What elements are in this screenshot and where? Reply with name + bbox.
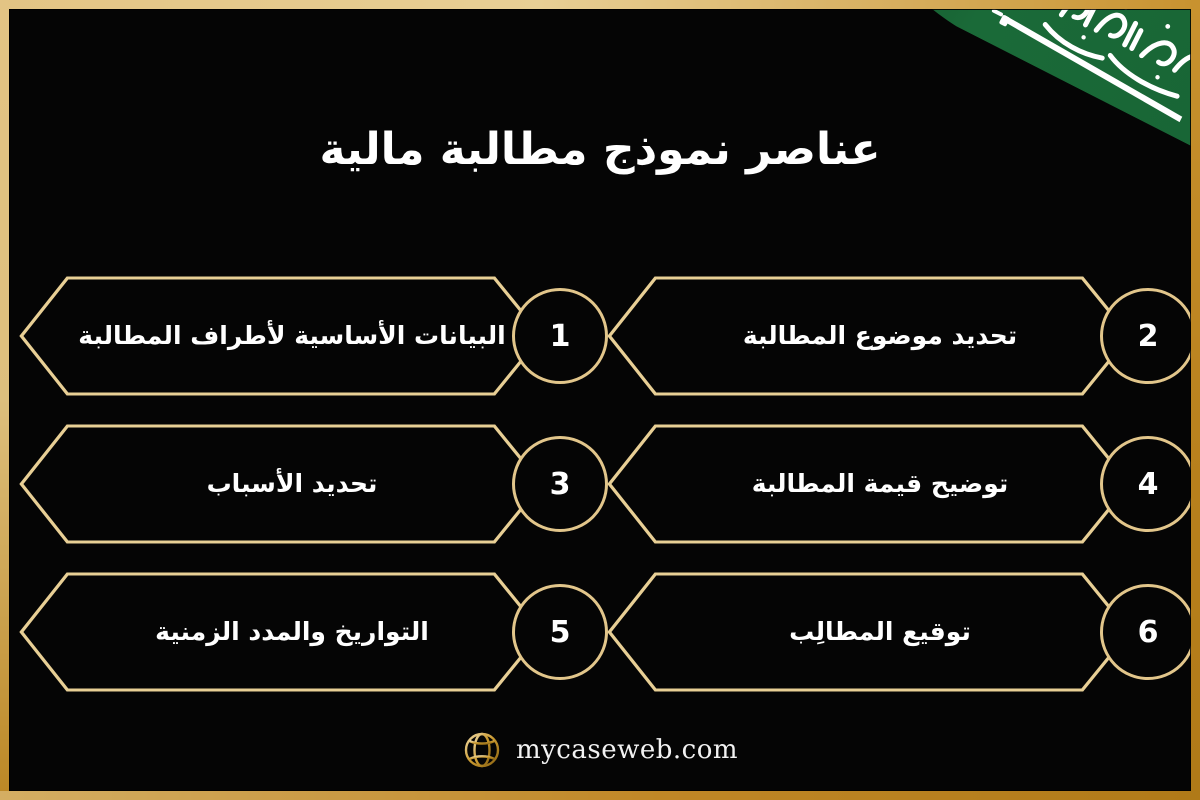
brand-footer: mycaseweb.com bbox=[0, 730, 1200, 770]
step-number-badge: 6 bbox=[1100, 584, 1196, 680]
brand-text: mycaseweb.com bbox=[516, 735, 738, 765]
step-label: توقيع المطالِب bbox=[650, 571, 1110, 693]
step-item-4[interactable]: توضيح قيمة المطالبة 4 bbox=[606, 423, 1182, 545]
globe-icon bbox=[462, 730, 502, 770]
frame-bottom-edge bbox=[0, 791, 1200, 800]
step-number-badge: 5 bbox=[512, 584, 608, 680]
step-label: تحديد الأسباب bbox=[62, 423, 522, 545]
step-label: توضيح قيمة المطالبة bbox=[650, 423, 1110, 545]
step-label: البيانات الأساسية لأطراف المطالبة bbox=[62, 275, 522, 397]
step-item-6[interactable]: توقيع المطالِب 6 bbox=[606, 571, 1182, 693]
step-label: تحديد موضوع المطالبة bbox=[650, 275, 1110, 397]
page-title: عناصر نموذج مطالبة مالية bbox=[0, 124, 1200, 177]
step-label: التواريخ والمدد الزمنية bbox=[62, 571, 522, 693]
step-item-5[interactable]: التواريخ والمدد الزمنية 5 bbox=[18, 571, 594, 693]
step-item-1[interactable]: البيانات الأساسية لأطراف المطالبة 1 bbox=[18, 275, 594, 397]
step-number-badge: 2 bbox=[1100, 288, 1196, 384]
frame-left-edge bbox=[0, 0, 9, 800]
step-number-badge: 1 bbox=[512, 288, 608, 384]
step-number-badge: 4 bbox=[1100, 436, 1196, 532]
step-item-2[interactable]: تحديد موضوع المطالبة 2 bbox=[606, 275, 1182, 397]
step-number-badge: 3 bbox=[512, 436, 608, 532]
step-item-3[interactable]: تحديد الأسباب 3 bbox=[18, 423, 594, 545]
infographic-canvas: عناصر نموذج مطالبة مالية تحديد موضوع الم… bbox=[0, 0, 1200, 800]
steps-grid: تحديد موضوع المطالبة 2 البيانات الأساسية… bbox=[18, 262, 1182, 706]
